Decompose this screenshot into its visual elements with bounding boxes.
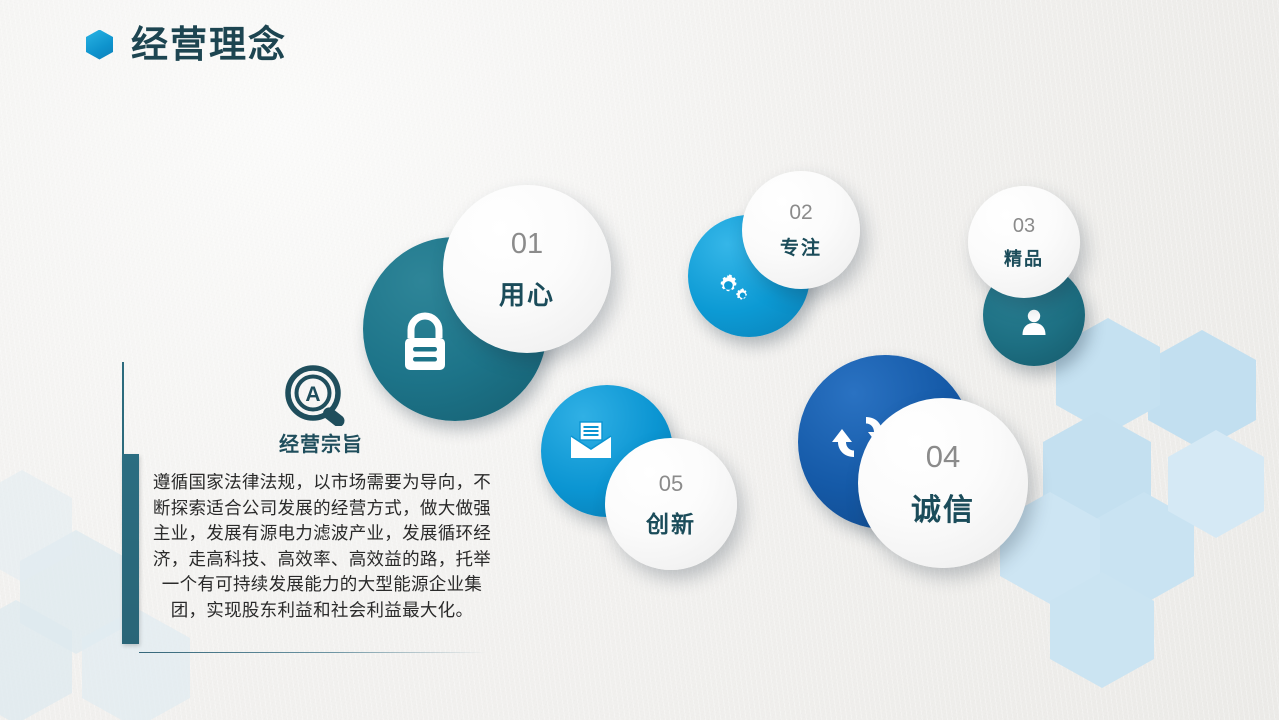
value-05-label: 创新 xyxy=(646,513,696,536)
hexagon-icon xyxy=(86,30,113,60)
value-05-label-circle[interactable]: 05 创新 xyxy=(605,438,737,570)
mission-accent-bar xyxy=(122,454,139,644)
mission-underline xyxy=(139,652,487,653)
value-04-label-circle[interactable]: 04 诚信 xyxy=(858,398,1028,568)
value-01-label-circle[interactable]: 01 用心 xyxy=(443,185,611,353)
value-01-number: 01 xyxy=(511,230,543,259)
svg-text:A: A xyxy=(305,383,320,406)
slide-header: 经营理念 xyxy=(86,26,287,63)
decor-hexagon xyxy=(1148,330,1256,450)
mission-heading: 经营宗旨 xyxy=(156,428,486,457)
value-03-label-circle[interactable]: 03 精品 xyxy=(968,186,1080,298)
envelope-icon xyxy=(568,420,614,462)
mission-top-rule xyxy=(122,362,124,454)
magnifier-a-icon: A xyxy=(282,364,360,426)
value-04-label: 诚信 xyxy=(911,496,975,526)
value-01-label: 用心 xyxy=(499,282,555,308)
value-03-label: 精品 xyxy=(1004,250,1044,268)
gears-icon xyxy=(711,268,751,308)
value-05-number: 05 xyxy=(659,473,683,495)
value-03-number: 03 xyxy=(1013,216,1035,236)
value-04-number: 04 xyxy=(926,441,960,472)
lock-icon xyxy=(397,312,453,374)
value-02-label: 专注 xyxy=(780,239,822,258)
value-02-number: 02 xyxy=(789,202,812,223)
person-icon xyxy=(1017,305,1051,339)
slide-canvas: 经营理念 A 经营宗旨 遵循国家法律法规，以市场需要为导向，不断探索适合公司发展… xyxy=(0,0,1279,720)
value-02-label-circle[interactable]: 02 专注 xyxy=(742,171,860,289)
mission-body-text: 遵循国家法律法规，以市场需要为导向，不断探索适合公司发展的经营方式，做大做强主业… xyxy=(152,470,492,623)
page-title: 经营理念 xyxy=(131,26,287,63)
